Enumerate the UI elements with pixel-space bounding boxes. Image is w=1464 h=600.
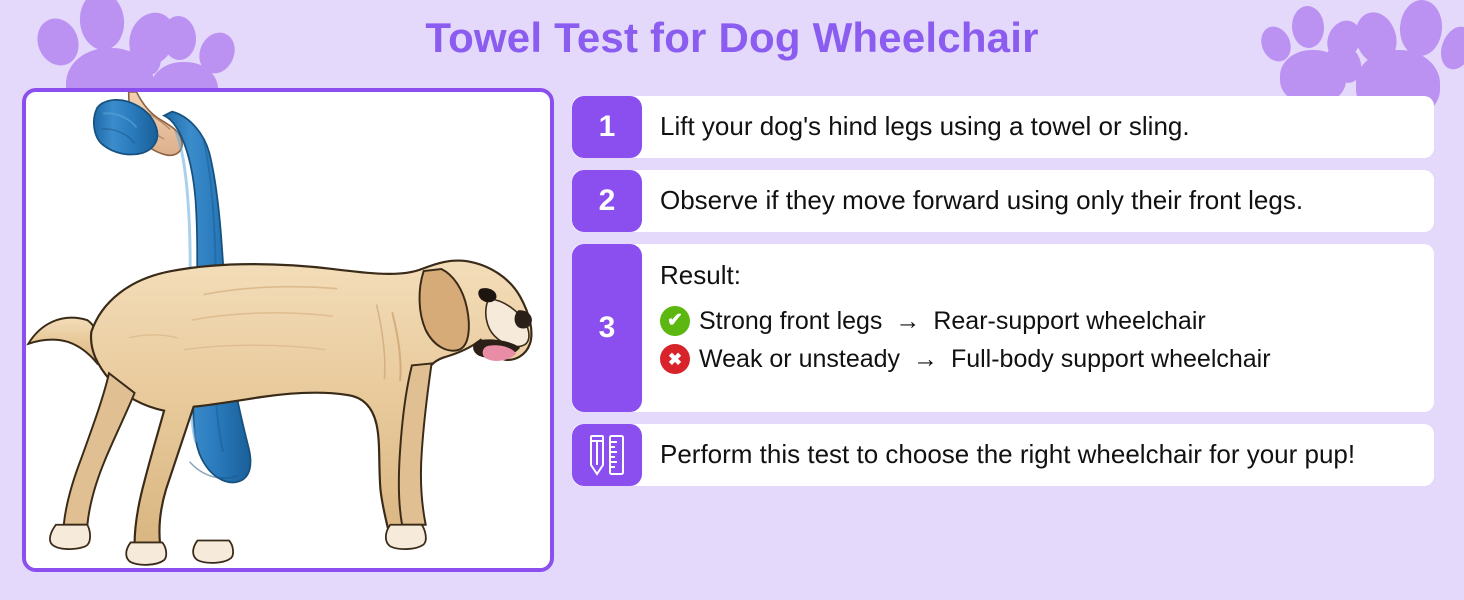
arrow-icon: → bbox=[907, 345, 944, 373]
pencil-ruler-icon bbox=[572, 424, 642, 486]
steps-list: 1 Lift your dog's hind legs using a towe… bbox=[572, 96, 1434, 486]
note-badge bbox=[572, 424, 642, 486]
step-number-badge: 3 bbox=[572, 244, 642, 412]
step-card-3: 3 Result: ✔ Strong front legs → Rear-sup… bbox=[572, 244, 1434, 412]
result-outcome: Rear-support wheelchair bbox=[933, 307, 1205, 335]
note-card: Perform this test to choose the right wh… bbox=[572, 424, 1434, 486]
result-row-positive: ✔ Strong front legs → Rear-support wheel… bbox=[660, 306, 1420, 337]
dog-towel-test-illustration bbox=[26, 92, 550, 568]
infographic-root: Towel Test for Dog Wheelchair bbox=[0, 0, 1464, 600]
page-title: Towel Test for Dog Wheelchair bbox=[0, 14, 1464, 62]
note-text: Perform this test to choose the right wh… bbox=[642, 424, 1434, 486]
check-circle-icon: ✔ bbox=[660, 306, 690, 336]
step-result-body: Result: ✔ Strong front legs → Rear-suppo… bbox=[642, 244, 1434, 412]
step-card-1: 1 Lift your dog's hind legs using a towe… bbox=[572, 96, 1434, 158]
result-text-negative: Weak or unsteady → Full-body support whe… bbox=[699, 344, 1271, 375]
dog-illustration-card bbox=[22, 88, 554, 572]
step-number-badge: 2 bbox=[572, 170, 642, 232]
step-text: Observe if they move forward using only … bbox=[642, 170, 1434, 232]
result-row-negative: ✖ Weak or unsteady → Full-body support w… bbox=[660, 344, 1420, 375]
result-condition: Weak or unsteady bbox=[699, 345, 900, 373]
result-outcome: Full-body support wheelchair bbox=[951, 345, 1271, 373]
step-card-2: 2 Observe if they move forward using onl… bbox=[572, 170, 1434, 232]
result-heading: Result: bbox=[660, 260, 1420, 292]
result-condition: Strong front legs bbox=[699, 307, 882, 335]
result-text-positive: Strong front legs → Rear-support wheelch… bbox=[699, 306, 1206, 337]
cross-circle-icon: ✖ bbox=[660, 344, 690, 374]
pencil-ruler-glyph bbox=[587, 431, 627, 479]
step-text: Lift your dog's hind legs using a towel … bbox=[642, 96, 1434, 158]
arrow-icon: → bbox=[889, 307, 926, 335]
step-number-badge: 1 bbox=[572, 96, 642, 158]
